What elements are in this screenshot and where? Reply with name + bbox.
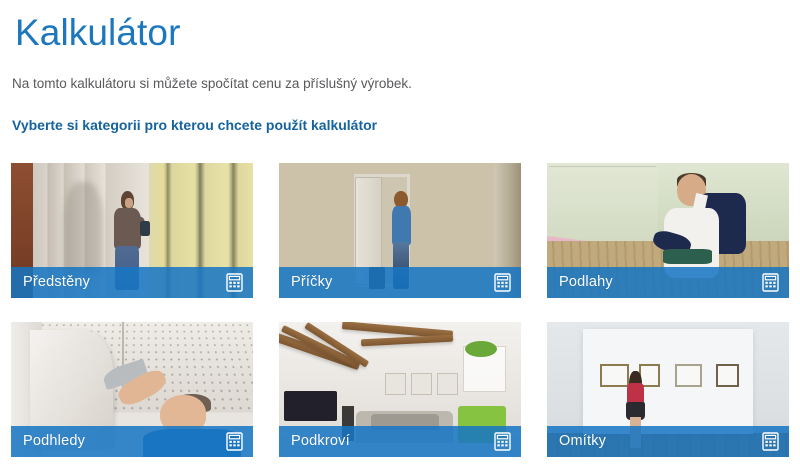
category-label-text: Omítky [559, 434, 606, 449]
calculator-icon [494, 273, 511, 292]
category-label-text: Podkroví [291, 434, 350, 449]
calculator-icon [762, 432, 779, 451]
category-label-text: Podlahy [559, 275, 613, 290]
category-card-podkrovi[interactable]: Podkroví [279, 322, 521, 457]
category-card-podlahy[interactable]: Podlahy [547, 163, 789, 298]
calculator-icon [762, 273, 779, 292]
category-card-grid: Předstěny [11, 163, 789, 457]
category-label-text: Předstěny [23, 275, 90, 290]
calculator-icon [494, 432, 511, 451]
category-label-bar-podlahy[interactable]: Podlahy [547, 267, 789, 298]
category-label-bar-podkrovi[interactable]: Podkroví [279, 426, 521, 457]
category-label-bar-podhledy[interactable]: Podhledy [11, 426, 253, 457]
intro-text: Na tomto kalkulátoru si můžete spočítat … [11, 53, 789, 94]
category-label-text: Podhledy [23, 434, 85, 449]
page-title: Kalkulátor [11, 0, 789, 53]
calculator-icon [226, 273, 243, 292]
category-label-bar-omitky[interactable]: Omítky [547, 426, 789, 457]
category-card-predsteny[interactable]: Předstěny [11, 163, 253, 298]
category-card-pricky[interactable]: Příčky [279, 163, 521, 298]
category-card-podhledy[interactable]: Podhledy [11, 322, 253, 457]
calculator-page: Kalkulátor Na tomto kalkulátoru si můžet… [0, 0, 800, 470]
category-label-text: Příčky [291, 275, 332, 290]
category-prompt-heading: Vyberte si kategorii pro kterou chcete p… [11, 94, 789, 134]
category-label-bar-pricky[interactable]: Příčky [279, 267, 521, 298]
calculator-icon [226, 432, 243, 451]
category-card-omitky[interactable]: Omítky [547, 322, 789, 457]
category-label-bar-predsteny[interactable]: Předstěny [11, 267, 253, 298]
